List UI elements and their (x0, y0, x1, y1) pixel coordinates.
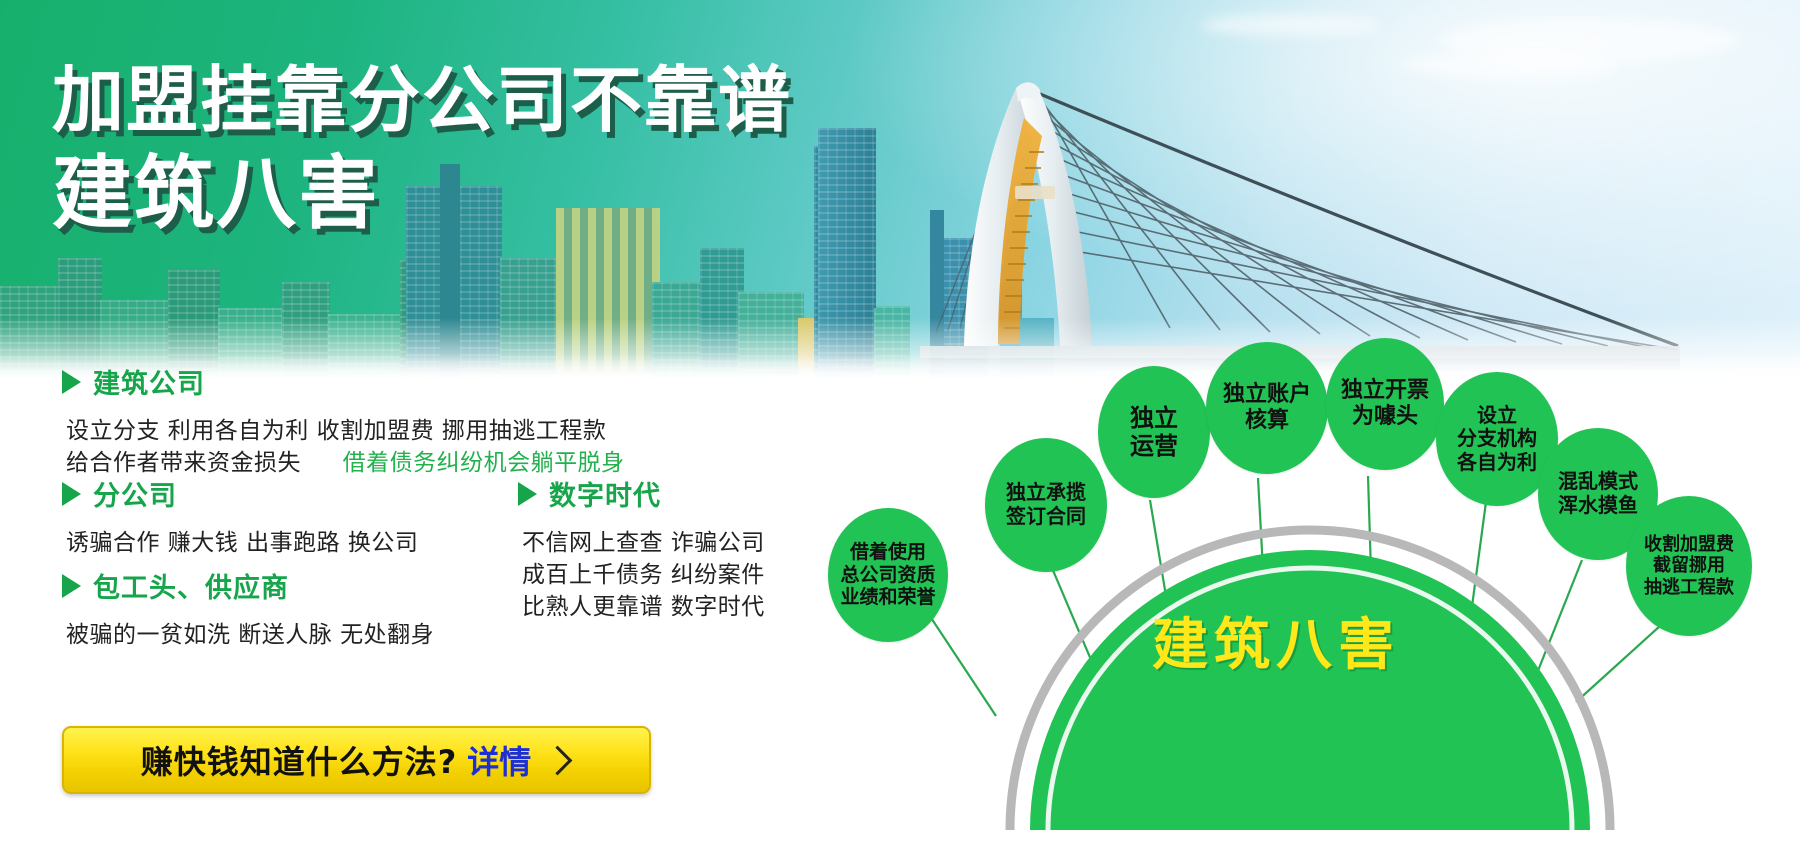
bubble-line: 混乱模式 (1558, 470, 1638, 494)
section-heading: 分公司 (62, 474, 418, 513)
section-body: 诱骗合作 赚大钱 出事跑路 换公司 (66, 527, 418, 559)
section-title: 分公司 (93, 474, 177, 513)
bubble-line: 借着使用 (840, 541, 935, 563)
bubble-franchise-fee-embezzlement[interactable]: 收割加盟费 截留挪用 抽逃工程款 (1626, 496, 1752, 636)
bubble-independent-account[interactable]: 独立账户 核算 (1206, 342, 1328, 474)
cloud-shape (1400, 52, 1620, 78)
section-branch-company: 分公司 诱骗合作 赚大钱 出事跑路 换公司 (62, 474, 418, 559)
bubble-line: 截留挪用 (1644, 555, 1734, 576)
triangle-right-icon (518, 482, 537, 506)
section-body: 被骗的一贫如洗 断送人脉 无处翻身 (66, 619, 434, 651)
bubble-line: 独立承揽 (1006, 481, 1086, 505)
bubble-line: 运营 (1130, 432, 1178, 460)
bubble-independent-operation[interactable]: 独立 运营 (1098, 366, 1210, 498)
bubble-line: 抽逃工程款 (1644, 577, 1734, 598)
headline-line-1: 加盟挂靠分公司不靠谱 (52, 58, 792, 142)
bubble-line: 分支机构 (1457, 427, 1537, 451)
body-line: 被骗的一贫如洗 断送人脉 无处翻身 (66, 619, 434, 651)
body-line: 诱骗合作 赚大钱 出事跑路 换公司 (66, 527, 418, 559)
body-line-accent: 借着债务纠纷机会躺平脱身 (343, 450, 625, 476)
body-line: 比熟人更靠谱 数字时代 (522, 591, 765, 623)
bubble-independent-invoicing[interactable]: 独立开票 为噱头 (1326, 338, 1444, 470)
bubble-line: 独立账户 (1223, 382, 1311, 408)
dome-center-label: 建筑八害 (1152, 600, 1400, 681)
section-construction-company: 建筑公司 设立分支 利用各自为利 收割加盟费 挪用抽逃工程款 给合作者带来资金损… (62, 362, 625, 479)
section-heading: 建筑公司 (62, 362, 625, 401)
triangle-right-icon (62, 482, 81, 506)
section-body: 不信网上查查 诈骗公司 成百上千债务 纠纷案件 比熟人更靠谱 数字时代 (522, 527, 765, 623)
cta-question-label: 赚快钱知道什么方法? (141, 737, 458, 783)
bubble-line: 浑水摸鱼 (1558, 494, 1638, 518)
poster-root: 加盟挂靠分公司不靠谱 建筑八害 建筑公司 设立分支 利用各自为利 收割加盟费 挪… (0, 0, 1800, 844)
section-heading: 包工头、供应商 (62, 566, 434, 605)
section-body: 设立分支 利用各自为利 收割加盟费 挪用抽逃工程款 给合作者带来资金损失 借着债… (66, 415, 625, 479)
bubble-independent-contracting[interactable]: 独立承揽 签订合同 (985, 438, 1107, 572)
bubble-line: 核算 (1223, 408, 1311, 434)
bubble-line: 独立开票 (1341, 378, 1429, 404)
bubble-line: 为噱头 (1341, 404, 1429, 430)
triangle-right-icon (62, 370, 81, 394)
headline-line-2: 建筑八害 (52, 146, 792, 242)
bubble-borrow-qualification[interactable]: 借着使用 总公司资质 业绩和荣誉 (828, 508, 948, 642)
section-title: 包工头、供应商 (93, 566, 289, 605)
dome-shape (1030, 550, 1590, 830)
bubble-line: 签订合同 (1006, 505, 1086, 529)
bubble-line: 业绩和荣誉 (840, 586, 935, 608)
eight-harms-diagram: 借着使用 总公司资质 业绩和荣誉 独立承揽 签订合同 独立 运营 独立账户 核算 (820, 330, 1800, 844)
section-heading: 数字时代 (518, 474, 765, 513)
page-title: 加盟挂靠分公司不靠谱 建筑八害 (52, 58, 792, 242)
section-digital-era: 数字时代 不信网上查查 诈骗公司 成百上千债务 纠纷案件 比熟人更靠谱 数字时代 (518, 474, 765, 623)
section-title: 建筑公司 (93, 362, 205, 401)
bubble-line: 独立 (1130, 404, 1178, 432)
cta-detail-link[interactable]: 详情 (467, 737, 531, 783)
chevron-right-icon (543, 745, 573, 775)
hero-banner: 加盟挂靠分公司不靠谱 建筑八害 (0, 0, 1800, 378)
bubble-line: 设立 (1457, 404, 1537, 428)
body-line-dark: 给合作者带来资金损失 (66, 450, 301, 476)
body-line: 设立分支 利用各自为利 收割加盟费 挪用抽逃工程款 (66, 415, 625, 447)
bubble-line: 总公司资质 (840, 564, 935, 586)
body-line: 成百上千债务 纠纷案件 (522, 559, 765, 591)
cta-button[interactable]: 赚快钱知道什么方法? 详情 (62, 726, 651, 794)
triangle-right-icon (62, 574, 81, 598)
cloud-shape (1200, 14, 1380, 36)
bubble-line: 各自为利 (1457, 451, 1537, 475)
section-title: 数字时代 (549, 474, 661, 513)
section-contractor-supplier: 包工头、供应商 被骗的一贫如洗 断送人脉 无处翻身 (62, 566, 434, 651)
bubble-line: 收割加盟费 (1644, 534, 1734, 555)
body-line: 不信网上查查 诈骗公司 (522, 527, 765, 559)
